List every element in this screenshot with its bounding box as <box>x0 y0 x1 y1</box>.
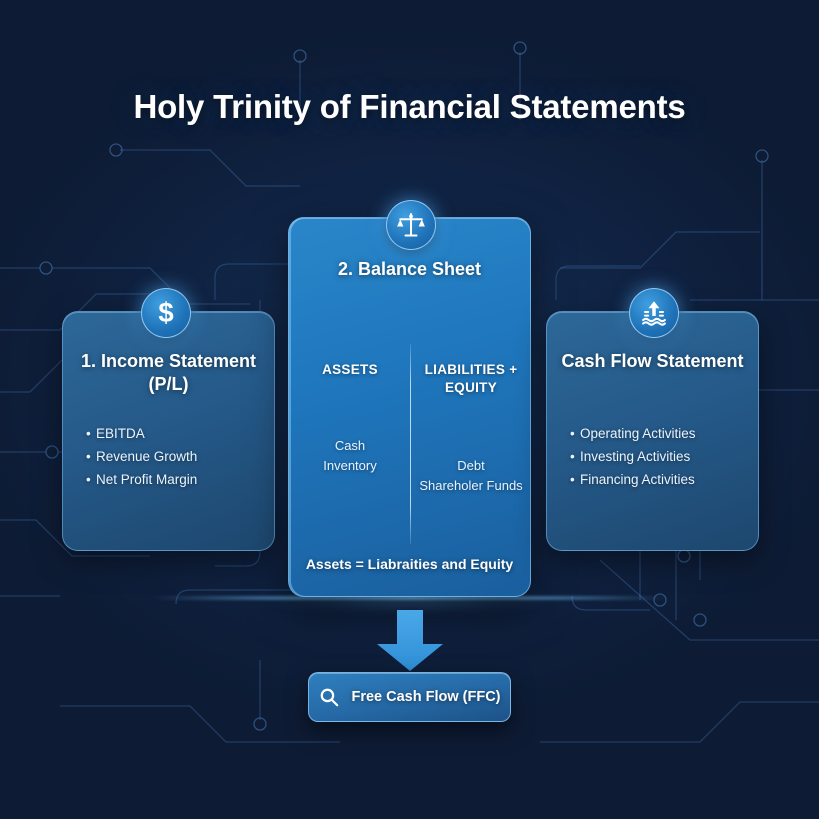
list-item: •EBITDA <box>86 422 264 445</box>
bullet-marker: • <box>86 422 96 445</box>
card-income-bullet-list: •EBITDA •Revenue Growth •Net Profit Marg… <box>86 422 264 492</box>
list-item: •Revenue Growth <box>86 445 264 468</box>
list-item-label: Investing Activities <box>580 449 690 464</box>
assets-items: Cash Inventory <box>291 436 409 476</box>
liabilities-items: Debt Shareholer Funds <box>412 456 530 496</box>
card-cashflow-title: Cash Flow Statement <box>547 350 758 373</box>
svg-text:$: $ <box>158 298 173 328</box>
card-income-statement[interactable]: 1. Income Statement (P/L) •EBITDA •Reven… <box>62 311 275 551</box>
bullet-marker: • <box>570 468 580 491</box>
free-cash-flow-result[interactable]: Free Cash Flow (FFC) <box>308 672 511 722</box>
balance-sheet-equation: Assets = Liabraities and Equity <box>289 556 530 572</box>
bullet-marker: • <box>86 468 96 491</box>
free-cash-flow-label: Free Cash Flow (FFC) <box>351 689 500 705</box>
bullet-marker: • <box>86 445 96 468</box>
down-arrow-icon <box>371 610 449 672</box>
card-cash-flow-statement[interactable]: Cash Flow Statement •Operating Activitie… <box>546 311 759 551</box>
list-item-label: Operating Activities <box>580 426 696 441</box>
liabilities-item: Debt <box>412 456 530 476</box>
assets-item: Cash <box>291 436 409 456</box>
card-income-title: 1. Income Statement (P/L) <box>63 350 274 395</box>
dollar-sign-icon: $ <box>141 288 191 338</box>
list-item: •Operating Activities <box>570 422 748 445</box>
liabilities-heading: LIABILITIES + EQUITY <box>412 361 530 396</box>
infographic-canvas: Holy Trinity of Financial Statements 1. … <box>0 0 819 819</box>
card-balance-title: 2. Balance Sheet <box>289 258 530 281</box>
balance-scale-icon <box>386 200 436 250</box>
bullet-marker: • <box>570 422 580 445</box>
assets-item: Inventory <box>291 456 409 476</box>
card-balance-sheet[interactable]: 2. Balance Sheet ASSETS Cash Inventory L… <box>288 217 531 597</box>
cash-flow-arrow-icon <box>629 288 679 338</box>
magnifier-icon <box>318 686 340 708</box>
list-item: •Financing Activities <box>570 468 748 491</box>
bullet-marker: • <box>570 445 580 468</box>
list-item-label: Financing Activities <box>580 472 695 487</box>
liabilities-item: Shareholer Funds <box>412 476 530 496</box>
card-cashflow-bullet-list: •Operating Activities •Investing Activit… <box>570 422 748 492</box>
list-item: •Investing Activities <box>570 445 748 468</box>
assets-heading: ASSETS <box>291 361 409 379</box>
list-item-label: Revenue Growth <box>96 449 197 464</box>
list-item-label: Net Profit Margin <box>96 472 197 487</box>
list-item: •Net Profit Margin <box>86 468 264 491</box>
balance-sheet-divider <box>410 344 411 544</box>
list-item-label: EBITDA <box>96 426 145 441</box>
page-title: Holy Trinity of Financial Statements <box>0 88 819 126</box>
